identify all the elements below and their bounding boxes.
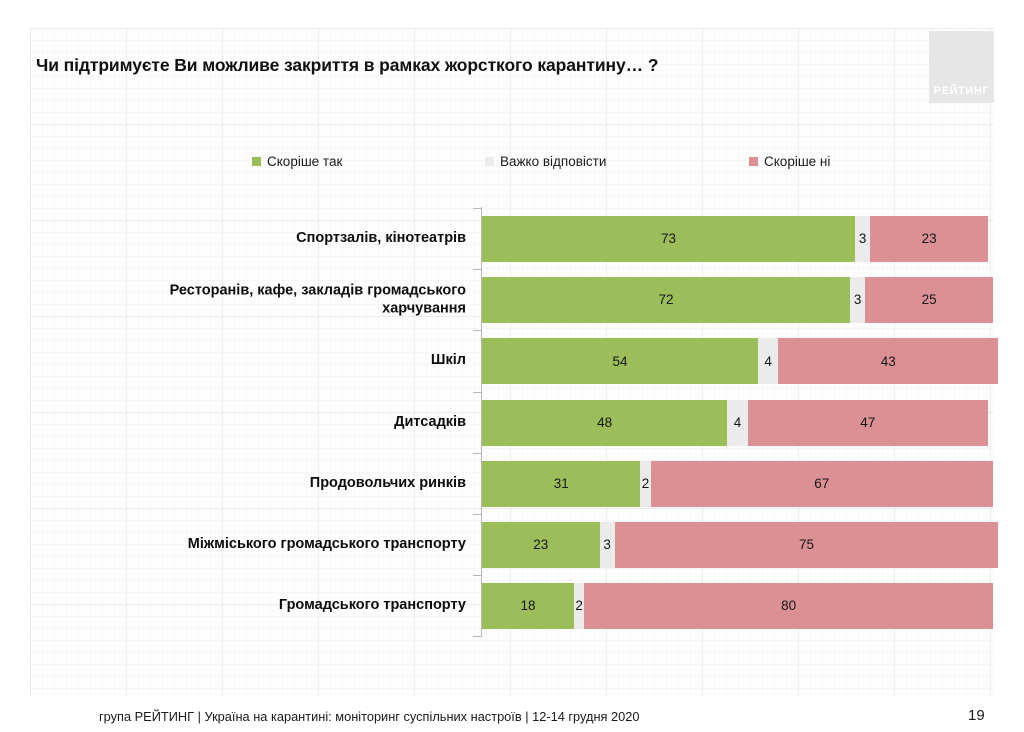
bar-value-label: 75 [799,538,814,552]
category-label: Дитсадків [116,414,466,432]
bar-segment-no: 25 [865,277,993,323]
legend-label-hard-to-say: Важко відповісти [500,154,606,169]
axis-tick [473,636,481,637]
legend-swatch-hard-to-say [485,157,494,166]
bar-value-label: 4 [764,355,772,369]
legend-swatch-no [749,157,758,166]
footer-source-note: група РЕЙТИНГ | Україна на карантині: мо… [99,709,639,724]
chart-row: Ресторанів, кафе, закладів громадського … [0,277,1024,323]
bar-value-label: 54 [612,355,627,369]
bar-value-label: 67 [814,477,829,491]
bar-value-label: 2 [642,477,650,491]
category-label: Продовольчих ринків [116,475,466,493]
bar-segment-hard-to-say: 4 [727,400,747,446]
legend-item-hard-to-say[interactable]: Важко відповісти [485,154,606,169]
bar-value-label: 23 [922,232,937,246]
stacked-bar: 31267 [482,461,993,507]
axis-tick [473,514,481,515]
axis-tick [473,392,481,393]
category-label: Шкіл [116,353,466,371]
axis-tick [473,208,481,209]
bar-value-label: 73 [661,232,676,246]
bar-segment-hard-to-say: 3 [600,522,615,568]
category-label: Спортзалів, кінотеатрів [116,230,466,248]
legend-item-yes[interactable]: Скоріше так [252,154,342,169]
chart-row: Громадського транспорту18280 [0,583,1024,629]
bar-segment-yes: 18 [482,583,574,629]
chart-row: Шкіл54443 [0,338,1024,384]
bar-value-label: 80 [781,599,796,613]
bar-value-label: 47 [860,416,875,430]
bar-segment-yes: 73 [482,216,855,262]
bar-value-label: 25 [922,293,937,307]
bar-segment-hard-to-say: 2 [640,461,650,507]
bar-segment-hard-to-say: 4 [758,338,778,384]
bar-value-label: 31 [554,477,569,491]
bar-value-label: 48 [597,416,612,430]
bar-segment-no: 23 [870,216,988,262]
stacked-bar: 73323 [482,216,993,262]
axis-tick [473,330,481,331]
category-label: Міжміського громадського транспорту [116,536,466,554]
chart-row: Продовольчих ринків31267 [0,461,1024,507]
category-label: Ресторанів, кафе, закладів громадського … [116,283,466,318]
bar-segment-no: 43 [778,338,998,384]
page-title: Чи підтримуєте Ви можливе закриття в рам… [36,55,896,76]
legend-label-no: Скоріше ні [764,154,830,169]
bar-segment-no: 75 [615,522,998,568]
bar-segment-yes: 54 [482,338,758,384]
stacked-bar: 48447 [482,400,993,446]
stacked-bar: 54443 [482,338,993,384]
bar-segment-yes: 72 [482,277,850,323]
bar-value-label: 23 [533,538,548,552]
bar-segment-no: 67 [651,461,993,507]
legend-swatch-yes [252,157,261,166]
bar-segment-hard-to-say: 2 [574,583,584,629]
bar-segment-no: 80 [584,583,993,629]
rating-logo: РЕЙТИНГ [929,31,994,103]
stacked-bar: 72325 [482,277,993,323]
category-label: Громадського транспорту [116,597,466,615]
legend-label-yes: Скоріше так [267,154,342,169]
bar-value-label: 43 [881,355,896,369]
bar-value-label: 3 [854,293,862,307]
chart-row: Спортзалів, кінотеатрів73323 [0,216,1024,262]
axis-tick [473,453,481,454]
bar-value-label: 3 [603,538,611,552]
axis-tick [473,575,481,576]
bar-value-label: 72 [658,293,673,307]
page-number: 19 [968,707,985,724]
bar-value-label: 3 [859,232,867,246]
chart-legend: Скоріше так Важко відповісти Скоріше ні [252,154,872,174]
bar-segment-yes: 23 [482,522,600,568]
bar-segment-hard-to-say: 3 [855,216,870,262]
bar-segment-hard-to-say: 3 [850,277,865,323]
axis-tick [473,269,481,270]
bar-value-label: 4 [734,416,742,430]
bar-segment-yes: 31 [482,461,640,507]
stacked-bar: 18280 [482,583,993,629]
stacked-bar-chart: Спортзалів, кінотеатрів73323Ресторанів, … [0,207,1024,635]
stacked-bar: 23375 [482,522,993,568]
bar-value-label: 18 [520,599,535,613]
bar-value-label: 2 [575,599,583,613]
bar-segment-no: 47 [748,400,988,446]
chart-row: Дитсадків48447 [0,400,1024,446]
legend-item-no[interactable]: Скоріше ні [749,154,830,169]
logo-label: РЕЙТИНГ [934,85,990,103]
bar-segment-yes: 48 [482,400,727,446]
chart-row: Міжміського громадського транспорту23375 [0,522,1024,568]
